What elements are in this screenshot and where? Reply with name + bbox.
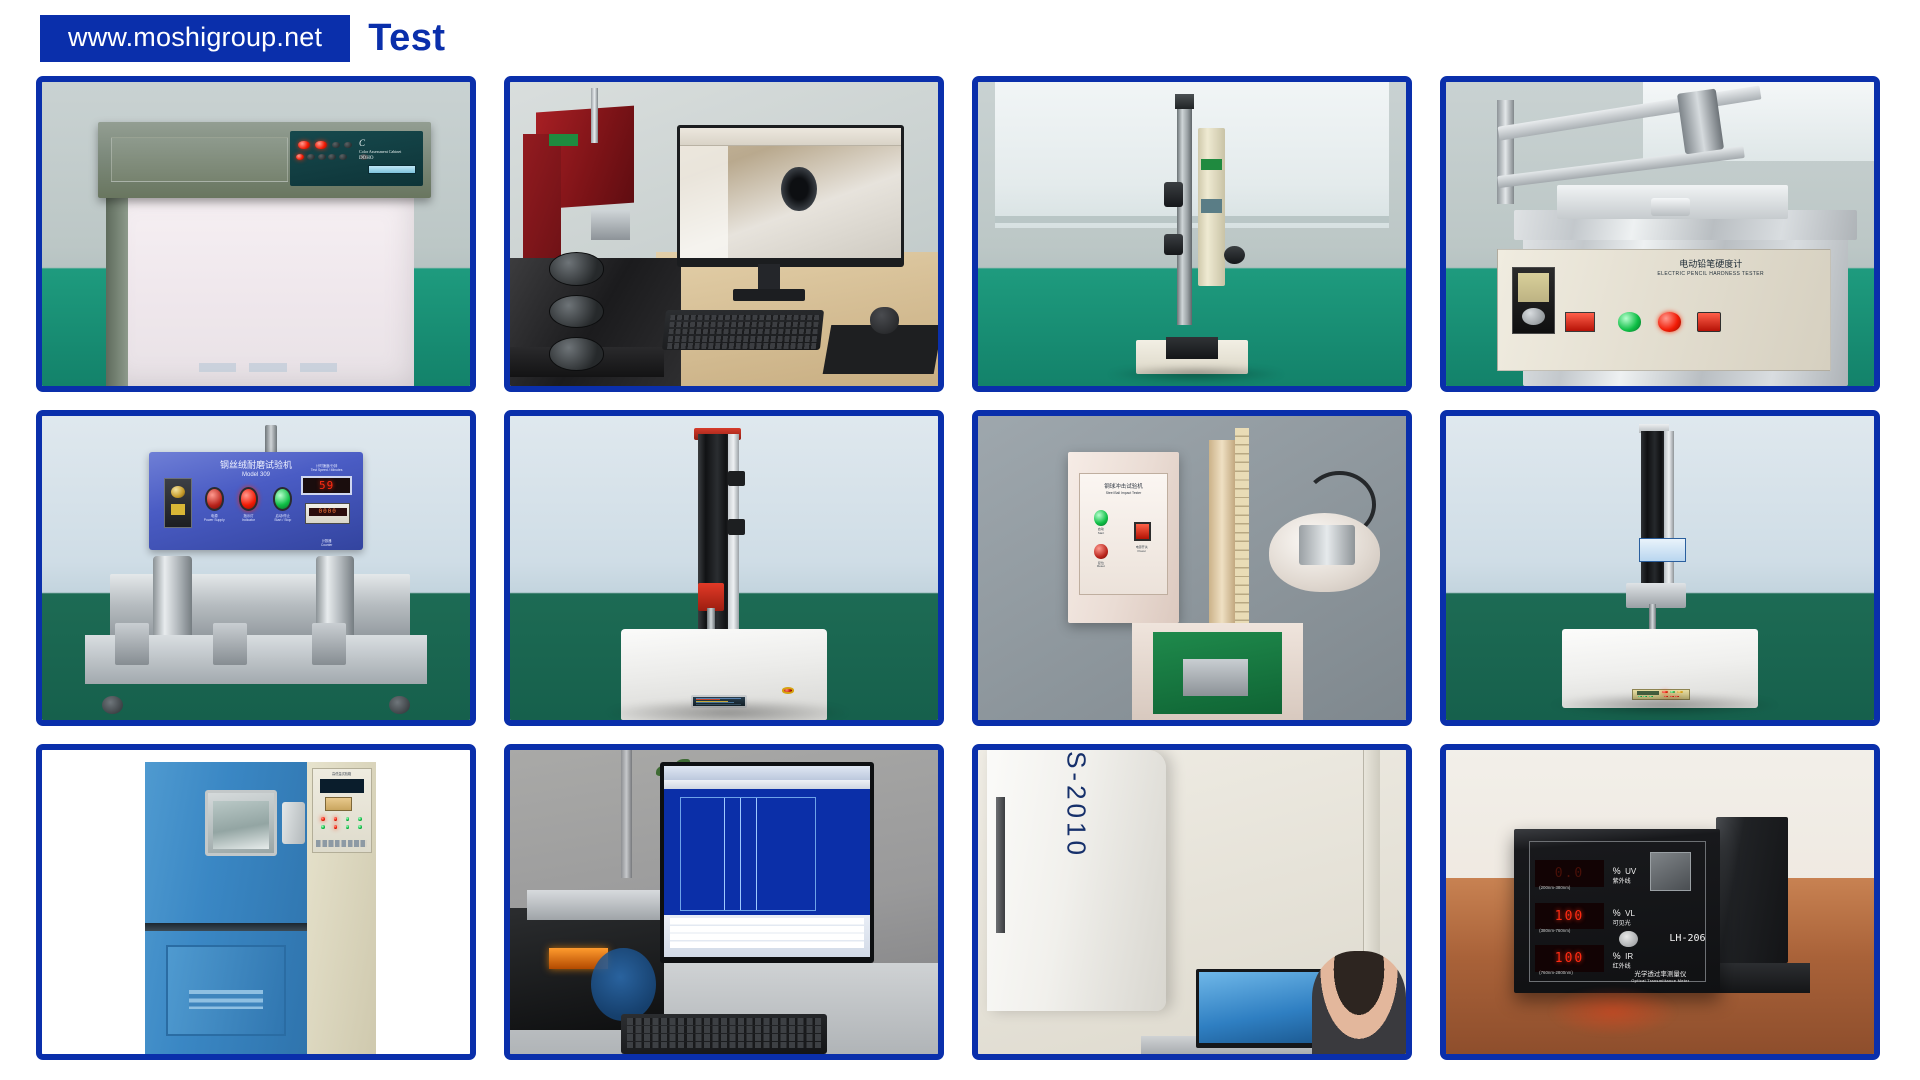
monitor-screen: [680, 128, 901, 259]
start-stop-button[interactable]: [273, 487, 292, 510]
cabinet-control-panel[interactable]: C Color Assessment Cabinet DOHO: [290, 131, 424, 186]
force-gauge: [1198, 128, 1225, 286]
window-sill: [995, 216, 1389, 224]
measurement-results-panel: [664, 915, 870, 957]
ventilation-grille: [189, 990, 263, 1009]
vl-unit-cn: 可见光: [1613, 921, 1635, 927]
caster-left: [102, 696, 123, 714]
lens-assembly-2: [549, 295, 605, 328]
specimen-clamp-3[interactable]: [312, 623, 346, 666]
computer-monitor: [677, 125, 904, 268]
uv-percent-symbol: %: [1613, 866, 1621, 876]
photo-pencil-hardness-tester: 电动铅笔硬度计 ELECTRIC PENCIL HARDNESS TESTER: [1446, 82, 1874, 386]
sample-holder: [591, 210, 630, 240]
green-clamp: [549, 134, 579, 146]
photo-scratch-resistance-tester: [1446, 416, 1874, 720]
cabinet-side-wall: [106, 191, 127, 386]
monitor-screen: [1199, 972, 1321, 1043]
alignment-rod: [591, 88, 598, 143]
software-side-panel: [680, 146, 729, 259]
lamp-button-5[interactable]: [339, 154, 347, 160]
meter-base-bridge: [1716, 963, 1810, 993]
keyboard[interactable]: [621, 1014, 826, 1054]
photo-vms-2010: VMS-2010: [978, 750, 1406, 1054]
photo-tensile-testing-machine: [510, 416, 938, 720]
monitor-stand: [733, 289, 806, 301]
monitor-screen: [664, 766, 870, 957]
door-handle[interactable]: [282, 802, 306, 845]
photo-color-assessment-cabinet: C Color Assessment Cabinet DOHO: [42, 82, 470, 386]
indicator-lamp[interactable]: [239, 487, 258, 510]
software-title-bar: [664, 766, 870, 779]
photo-cell-vision-measuring-workstation[interactable]: [504, 744, 944, 1060]
sensor-window: [1650, 852, 1691, 891]
software-toolbar: [664, 780, 870, 790]
photo-optical-bench-pc: [510, 82, 938, 386]
emergency-stop-button[interactable]: [782, 687, 794, 693]
reset-button[interactable]: [1094, 544, 1108, 560]
upper-limit-stop[interactable]: [728, 471, 745, 486]
page-header: www.moshigroup.net Test: [0, 0, 1920, 76]
power-supply-label: 电源 Power Supply: [199, 514, 229, 522]
counter-caption: 计数器 Counter: [303, 540, 350, 548]
pencil-holder: [1651, 198, 1690, 216]
door-seal-band: [145, 923, 308, 931]
floor-shadow: [604, 699, 852, 720]
specimen-clamp-1[interactable]: [115, 623, 149, 666]
photo-cell-color-assessment-cabinet[interactable]: C Color Assessment Cabinet DOHO: [36, 76, 476, 392]
meter-model-text: LH-206: [1669, 933, 1705, 944]
photo-cell-temperature-test-chamber[interactable]: 高低温试验箱: [36, 744, 476, 1060]
emergency-switch[interactable]: [1697, 312, 1720, 331]
photo-cell-optical-transmittance-meter[interactable]: 0.0 % UV 紫外线 (200nm-380nm) 100 % VL: [1440, 744, 1880, 1060]
timer-meter-module: [1512, 267, 1555, 334]
keyboard[interactable]: [662, 310, 825, 350]
measuring-stage: [527, 890, 673, 920]
lens-assembly-1: [549, 252, 605, 285]
counter-digits: 0000: [309, 508, 347, 517]
indicator-led-array: [317, 816, 366, 831]
operator-person: [1312, 951, 1406, 1054]
computer-monitor: [660, 762, 874, 963]
vl-percent-symbol: %: [1613, 908, 1621, 918]
cabinet-interior: [106, 191, 414, 386]
specimen-fixture: [1166, 337, 1217, 358]
door-view-window: [205, 790, 278, 857]
controller-button-labels: [316, 840, 367, 847]
column-guide-rail: [1664, 431, 1673, 601]
indicator-label: 指示灯 Indicator: [234, 514, 264, 522]
photo-vision-measuring-workstation: [510, 750, 938, 1054]
photo-steel-wool-abrasion-tester: 钢丝绒耐磨试验机 Model 309 电源 Power Supply: [42, 416, 470, 720]
main-power-switch-box[interactable]: [164, 478, 192, 529]
ir-range-label: (760nm-2800nm): [1539, 970, 1573, 975]
controller-box[interactable]: 钢球冲击试验机 Steel Ball Impact Tester 启动 Star…: [1068, 452, 1179, 622]
floor-shadow: [1549, 693, 1780, 717]
ir-unit: % IR 红外线: [1613, 947, 1633, 970]
website-url-badge[interactable]: www.moshigroup.net: [40, 15, 350, 62]
lower-access-door: [166, 945, 286, 1036]
lamp-indicator-4: [344, 142, 352, 149]
vl-digits: 100: [1535, 903, 1604, 930]
stop-button[interactable]: [1658, 312, 1681, 331]
photo-cell-push-pull-test-stand[interactable]: [972, 76, 1412, 392]
lower-limit-stop[interactable]: [728, 519, 745, 534]
photo-steel-ball-impact-tester: 钢球冲击试验机 Steel Ball Impact Tester 启动 Star…: [978, 416, 1406, 720]
power-rocker-switch[interactable]: [1134, 522, 1151, 541]
temperature-display: [320, 779, 364, 793]
photo-cell-vms-2010[interactable]: VMS-2010: [972, 744, 1412, 1060]
solenoid-collar: [1299, 525, 1355, 565]
vms-machine-body: VMS-2010: [987, 750, 1167, 1011]
floor-shadow: [1106, 365, 1286, 383]
vertical-post: [1497, 100, 1514, 203]
secondary-display: [325, 797, 352, 810]
room-divider-post: [621, 750, 632, 878]
brand-sticker: [1639, 538, 1686, 562]
machine-side-slot: [996, 797, 1005, 933]
reset-button-label: 复位 Reset: [1090, 562, 1111, 569]
photo-cell-tensile-testing-machine[interactable]: [504, 410, 944, 726]
lamp-button-2[interactable]: [307, 154, 315, 160]
pcb-module: [1183, 659, 1247, 695]
ir-unit-en: IR: [1625, 952, 1633, 961]
monitor-neck: [758, 264, 779, 291]
meter-knob[interactable]: [1522, 308, 1545, 325]
timer-caption: 计时速度/分钟 Test Speed / Minutes: [301, 464, 352, 473]
photo-cell-steel-ball-impact-tester[interactable]: 钢球冲击试验机 Steel Ball Impact Tester 启动 Star…: [972, 410, 1412, 726]
column-cap: [1175, 94, 1194, 109]
timer-display: 59: [301, 476, 352, 495]
table-reflection: [1549, 987, 1677, 1036]
equipment-photo-grid: C Color Assessment Cabinet DOHO: [36, 76, 1880, 1060]
vl-unit-en: VL: [1625, 909, 1635, 918]
meter-brand-text: 光学透过率测量仪 Optical Transmittance Meter: [1611, 970, 1710, 984]
caster-right: [389, 696, 410, 714]
adjustment-knob-lower[interactable]: [1164, 234, 1183, 255]
adjustment-knob-upper[interactable]: [1164, 182, 1183, 206]
uv-digits: 0.0: [1535, 860, 1604, 887]
start-button[interactable]: [1618, 312, 1641, 331]
equipment-status-badge: [591, 948, 655, 1021]
cabinet-hood: C Color Assessment Cabinet DOHO: [98, 122, 432, 198]
control-panel[interactable]: 钢丝绒耐磨试验机 Model 309 电源 Power Supply: [149, 452, 363, 549]
photo-temperature-test-chamber: 高低温试验箱: [42, 750, 470, 1054]
switch-indicator: [171, 504, 184, 515]
lamp-indicator-1: [298, 141, 310, 150]
power-rocker-switch[interactable]: [1565, 312, 1595, 331]
machine-model-text: VMS-2010: [1061, 750, 1092, 859]
lamp-indicator-2: [315, 141, 327, 150]
controller-title: 钢球冲击试验机 Steel Ball Impact Tester: [1080, 484, 1167, 496]
controller-title: 高低温试验箱: [313, 771, 371, 776]
controller-panel[interactable]: 高低温试验箱: [312, 768, 372, 853]
gauge-brand-label: [1201, 159, 1222, 170]
start-button[interactable]: [1094, 510, 1108, 526]
page-root: www.moshigroup.net Test: [0, 0, 1920, 1080]
meter-rear-arm: [1716, 817, 1789, 963]
measurement-target-image: [781, 167, 816, 211]
specimen-clamp-2[interactable]: [213, 623, 247, 666]
power-switch-label: 电源开关 Power: [1129, 546, 1155, 553]
sample-swatches: [199, 363, 338, 373]
cad-drawing-area: [680, 797, 816, 911]
vl-unit: % VL 可见光: [1613, 904, 1635, 927]
cabinet-brand-mark: C Color Assessment Cabinet DOHO: [359, 138, 418, 166]
window-glass: [213, 801, 269, 849]
photo-cell-optical-bench-pc[interactable]: [504, 76, 944, 392]
operator-monitor: [1196, 969, 1324, 1048]
load-cell-grip: [698, 583, 724, 610]
ir-digits: 100: [1535, 945, 1604, 972]
lens-assembly-3: [549, 337, 605, 370]
start-button-label: 启动 Start: [1090, 528, 1111, 535]
uv-unit-en: UV: [1625, 867, 1636, 876]
cabinet-lcd-display: [368, 165, 416, 174]
drop-tube: [1209, 440, 1235, 641]
hood-inset: [111, 137, 288, 183]
counter-module: 0000: [305, 503, 350, 524]
lamp-button-3[interactable]: [318, 154, 326, 160]
gauge-lcd-display: [1201, 199, 1222, 213]
tester-nameplate: 电动铅笔硬度计 ELECTRIC PENCIL HARDNESS TESTER: [1608, 260, 1814, 296]
vl-range-label: (380nm-760nm): [1539, 928, 1570, 933]
lamp-button-1[interactable]: [296, 154, 304, 160]
machine-column: [1641, 431, 1667, 601]
photo-cell-steel-wool-abrasion-tester[interactable]: 钢丝绒耐磨试验机 Model 309 电源 Power Supply: [36, 410, 476, 726]
control-panel[interactable]: 电动铅笔硬度计 ELECTRIC PENCIL HARDNESS TESTER: [1497, 249, 1831, 371]
uv-unit-cn: 紫外线: [1613, 879, 1637, 885]
lamp-indicator-3: [332, 142, 340, 149]
meter-front-panel[interactable]: 0.0 % UV 紫外线 (200nm-380nm) 100 % VL: [1514, 829, 1719, 993]
photo-cell-pencil-hardness-tester[interactable]: 电动铅笔硬度计 ELECTRIC PENCIL HARDNESS TESTER: [1440, 76, 1880, 392]
software-toolbar: [680, 128, 901, 146]
lamp-button-4[interactable]: [328, 154, 336, 160]
uv-unit: % UV 紫外线: [1613, 862, 1637, 885]
rotary-knob[interactable]: [171, 486, 185, 499]
brand-logo-icon: [1619, 931, 1637, 947]
uv-range-label: (200nm-380nm): [1539, 885, 1570, 890]
stand-column: [1177, 106, 1192, 325]
meter-face: [1518, 273, 1549, 302]
controller-label-plate: 钢球冲击试验机 Steel Ball Impact Tester 启动 Star…: [1079, 473, 1168, 596]
results-table-rows: [670, 918, 864, 947]
page-title: Test: [368, 19, 445, 57]
start-stop-label: 启动/停止 Start / Stop: [268, 514, 298, 522]
photo-push-pull-test-stand: [978, 82, 1406, 386]
photo-optical-transmittance-meter: 0.0 % UV 紫外线 (200nm-380nm) 100 % VL: [1446, 750, 1874, 1054]
power-supply-button[interactable]: [205, 487, 224, 510]
photo-cell-scratch-resistance-tester[interactable]: [1440, 410, 1880, 726]
ir-percent-symbol: %: [1613, 951, 1621, 961]
